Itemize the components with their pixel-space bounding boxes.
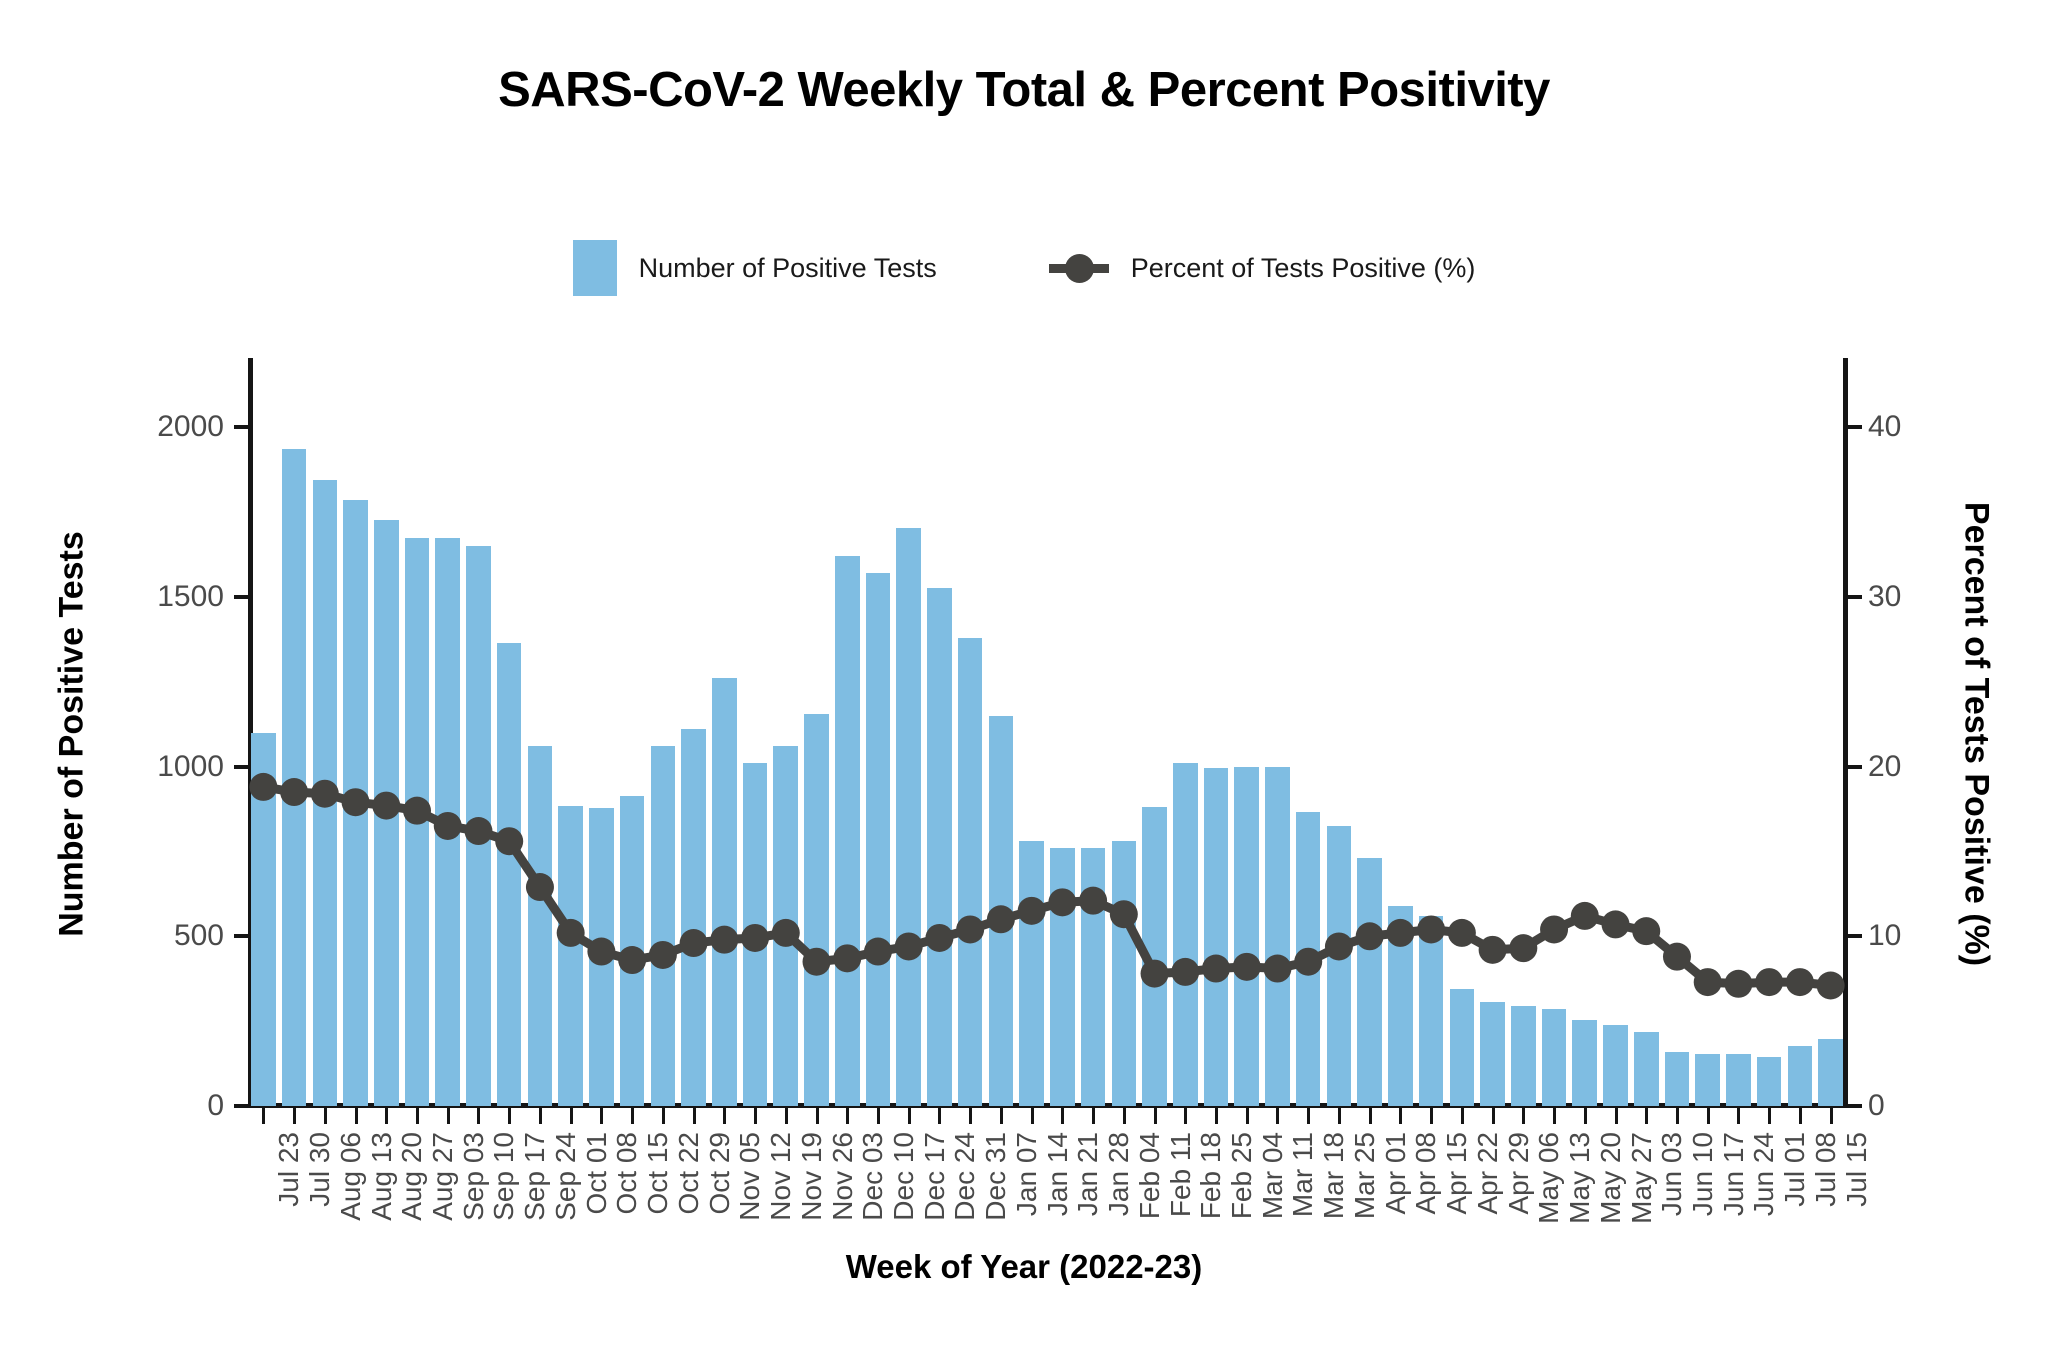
bar — [681, 729, 706, 1106]
x-axis-tick-label: Dec 03 — [857, 1132, 889, 1221]
x-axis-tick-label: Jan 14 — [1042, 1132, 1074, 1216]
x-axis-tick-label: Mar 18 — [1318, 1132, 1350, 1219]
bar — [1173, 763, 1198, 1106]
x-axis-tick — [355, 1108, 358, 1124]
x-axis-tick — [877, 1108, 880, 1124]
bar — [958, 638, 983, 1106]
x-axis-tick — [1215, 1108, 1218, 1124]
x-axis-tick — [631, 1108, 634, 1124]
y-axis-right-tick — [1848, 1104, 1862, 1108]
x-axis-tick — [1154, 1108, 1157, 1124]
x-axis-tick-label: Dec 10 — [888, 1132, 920, 1221]
bar — [374, 520, 399, 1106]
y-axis-left-tick-label: 0 — [207, 1089, 224, 1123]
line-marker-icon — [1049, 251, 1109, 285]
bar — [1665, 1052, 1690, 1106]
x-axis-tick-label: Jul 30 — [304, 1132, 336, 1207]
bar — [866, 573, 891, 1106]
y-axis-left-tick — [234, 595, 248, 599]
legend-item-bars: Number of Positive Tests — [573, 240, 937, 296]
x-axis-tick-label: Aug 06 — [335, 1132, 367, 1221]
x-axis-tick — [1461, 1108, 1464, 1124]
bar — [896, 528, 921, 1106]
bar — [1327, 826, 1352, 1106]
y-axis-left-tick — [234, 1104, 248, 1108]
x-axis-tick — [908, 1108, 911, 1124]
y-axis-right-tick — [1848, 765, 1862, 769]
x-axis-tick-label: Jan 21 — [1072, 1132, 1104, 1216]
x-axis-tick-label: Oct 08 — [611, 1132, 643, 1214]
y-axis-left-tick-label: 2000 — [157, 410, 224, 444]
x-axis-tick — [539, 1108, 542, 1124]
x-axis-tick — [1830, 1108, 1833, 1124]
x-axis-tick — [416, 1108, 419, 1124]
bar — [773, 746, 798, 1106]
x-axis-tick-label: Feb 25 — [1226, 1132, 1258, 1219]
x-axis-tick — [1338, 1108, 1341, 1124]
y-axis-right-tick — [1848, 934, 1862, 938]
x-axis-tick — [1123, 1108, 1126, 1124]
x-axis-tick-label: Jun 24 — [1748, 1132, 1780, 1216]
bar — [1450, 989, 1475, 1106]
x-axis-tick — [477, 1108, 480, 1124]
x-axis-tick-label: Oct 22 — [673, 1132, 705, 1214]
y-axis-right-title: Percent of Tests Positive (%) — [1957, 502, 1996, 966]
x-axis-tick-label: Sep 24 — [550, 1132, 582, 1221]
y-axis-right-tick-label: 10 — [1868, 919, 1901, 953]
bar — [1081, 848, 1106, 1106]
plot-area — [248, 366, 1846, 1106]
x-axis-tick — [1707, 1108, 1710, 1124]
x-axis-tick — [293, 1108, 296, 1124]
bars-layer — [248, 366, 1846, 1106]
x-axis-tick — [1000, 1108, 1003, 1124]
x-axis-tick-label: Feb 11 — [1165, 1132, 1197, 1217]
bar — [1788, 1046, 1813, 1106]
bar — [1603, 1025, 1628, 1106]
x-axis-tick-label: Dec 24 — [949, 1132, 981, 1221]
bar — [712, 678, 737, 1106]
x-axis-tick-label: Jul 01 — [1779, 1132, 1811, 1207]
bar — [1204, 768, 1229, 1106]
x-axis-tick — [938, 1108, 941, 1124]
bar — [1019, 841, 1044, 1106]
bar — [466, 546, 491, 1106]
bar — [528, 746, 553, 1106]
x-axis-tick-label: Sep 10 — [488, 1132, 520, 1221]
y-axis-right-tick — [1848, 425, 1862, 429]
x-axis-title: Week of Year (2022-23) — [0, 1248, 2048, 1286]
bar — [497, 643, 522, 1106]
bar — [620, 796, 645, 1106]
x-axis-tick — [754, 1108, 757, 1124]
x-axis-tick-label: Feb 18 — [1195, 1132, 1227, 1219]
bar — [1572, 1020, 1597, 1106]
x-axis-tick-label: Nov 05 — [734, 1132, 766, 1221]
x-axis-tick — [1061, 1108, 1064, 1124]
x-axis-tick — [1737, 1108, 1740, 1124]
x-axis-tick — [969, 1108, 972, 1124]
bar — [251, 733, 276, 1106]
x-axis-tick-label: Mar 04 — [1257, 1132, 1289, 1219]
x-axis-tick — [1430, 1108, 1433, 1124]
y-axis-right-tick-label: 0 — [1868, 1089, 1885, 1123]
x-axis-tick — [693, 1108, 696, 1124]
bar — [1634, 1032, 1659, 1106]
x-axis-tick-label: May 20 — [1595, 1132, 1627, 1224]
x-axis-tick-label: Jul 23 — [273, 1132, 305, 1207]
y-axis-right-tick-label: 20 — [1868, 750, 1901, 784]
bar — [1726, 1054, 1751, 1106]
x-axis-tick-label: Jan 07 — [1011, 1132, 1043, 1216]
legend-label-bars: Number of Positive Tests — [639, 253, 937, 284]
bar — [282, 449, 307, 1106]
bar — [1511, 1006, 1536, 1106]
x-axis-tick — [570, 1108, 573, 1124]
x-axis-tick — [1645, 1108, 1648, 1124]
x-axis-tick-label: Jun 17 — [1718, 1132, 1750, 1216]
y-axis-left-tick-label: 1500 — [157, 580, 224, 614]
y-axis-left-tick — [234, 934, 248, 938]
bar — [1419, 916, 1444, 1106]
x-axis-tick-label: Mar 11 — [1287, 1132, 1319, 1217]
x-axis-tick — [662, 1108, 665, 1124]
bar — [804, 714, 829, 1106]
bar — [1818, 1039, 1843, 1106]
bar — [1388, 906, 1413, 1106]
x-axis-tick-label: Aug 27 — [427, 1132, 459, 1221]
x-axis-tick-label: May 27 — [1626, 1132, 1658, 1224]
x-axis-tick — [1276, 1108, 1279, 1124]
x-axis-tick — [1031, 1108, 1034, 1124]
x-axis-tick — [723, 1108, 726, 1124]
chart-legend: Number of Positive Tests Percent of Test… — [0, 240, 2048, 296]
x-axis-tick — [785, 1108, 788, 1124]
y-axis-left-tick — [234, 765, 248, 769]
bar — [1296, 812, 1321, 1106]
x-axis-tick-label: Jul 08 — [1810, 1132, 1842, 1207]
y-axis-right-tick-label: 30 — [1868, 580, 1901, 614]
y-axis-left-tick — [234, 425, 248, 429]
x-axis-tick — [508, 1108, 511, 1124]
bar — [343, 500, 368, 1106]
bar — [435, 538, 460, 1106]
x-axis-tick-label: May 06 — [1533, 1132, 1565, 1224]
x-axis-tick-label: Apr 29 — [1503, 1132, 1535, 1215]
x-axis-tick-label: Apr 15 — [1441, 1132, 1473, 1215]
x-axis-tick — [1799, 1108, 1802, 1124]
x-axis-tick-label: Jun 10 — [1687, 1132, 1719, 1216]
x-axis-tick-label: Nov 26 — [827, 1132, 859, 1221]
bar — [651, 746, 676, 1106]
legend-label-line: Percent of Tests Positive (%) — [1131, 253, 1476, 284]
bar — [743, 763, 768, 1106]
y-axis-left-tick-label: 500 — [174, 919, 224, 953]
x-axis-tick-label: Apr 01 — [1380, 1132, 1412, 1215]
x-axis-tick-label: Apr 08 — [1410, 1132, 1442, 1215]
page-title: SARS-CoV-2 Weekly Total & Percent Positi… — [0, 62, 2048, 118]
x-axis-tick-label: Oct 01 — [581, 1132, 613, 1214]
x-axis-tick — [1615, 1108, 1618, 1124]
x-axis-tick — [1584, 1108, 1587, 1124]
x-axis-tick-label: Dec 17 — [919, 1132, 951, 1221]
x-axis-tick-label: Jul 15 — [1841, 1132, 1873, 1207]
x-axis-tick — [1768, 1108, 1771, 1124]
bar — [1357, 858, 1382, 1106]
bar — [1112, 841, 1137, 1106]
x-axis-tick — [385, 1108, 388, 1124]
bar — [989, 716, 1014, 1106]
bar-swatch-icon — [573, 240, 617, 296]
legend-item-line: Percent of Tests Positive (%) — [1049, 251, 1476, 285]
bar — [1695, 1054, 1720, 1106]
y-axis-right-tick — [1848, 595, 1862, 599]
bar — [1542, 1009, 1567, 1106]
x-axis-tick — [1522, 1108, 1525, 1124]
x-axis-tick-label: Aug 20 — [396, 1132, 428, 1221]
x-axis-tick-label: Jun 03 — [1656, 1132, 1688, 1216]
x-axis-tick-label: May 13 — [1564, 1132, 1596, 1224]
x-axis-tick-label: Sep 03 — [458, 1132, 490, 1221]
x-axis-tick-label: Apr 22 — [1472, 1132, 1504, 1215]
x-axis-tick-label: Mar 25 — [1349, 1132, 1381, 1219]
x-axis-tick — [1092, 1108, 1095, 1124]
x-axis-tick — [1184, 1108, 1187, 1124]
bar — [1265, 767, 1290, 1106]
bar — [927, 588, 952, 1106]
bar — [1234, 767, 1259, 1106]
bar — [1757, 1057, 1782, 1106]
x-axis-tick — [1307, 1108, 1310, 1124]
x-axis-tick-label: Sep 17 — [519, 1132, 551, 1221]
y-axis-right-tick-label: 40 — [1868, 410, 1901, 444]
x-axis-tick — [1553, 1108, 1556, 1124]
bar — [1050, 848, 1075, 1106]
x-axis-tick — [324, 1108, 327, 1124]
y-axis-left-title: Number of Positive Tests — [53, 531, 92, 937]
x-axis-tick-label: Aug 13 — [366, 1132, 398, 1221]
x-axis-tick-label: Nov 12 — [765, 1132, 797, 1221]
chart-figure: SARS-CoV-2 Weekly Total & Percent Positi… — [0, 0, 2048, 1365]
x-axis-tick-label: Oct 29 — [704, 1132, 736, 1214]
bar — [558, 806, 583, 1106]
x-axis-tick-label: Dec 31 — [980, 1132, 1012, 1221]
bar — [1142, 807, 1167, 1106]
x-axis-tick — [600, 1108, 603, 1124]
x-axis-tick-label: Feb 04 — [1134, 1132, 1166, 1219]
bar — [313, 480, 338, 1106]
bar — [589, 808, 614, 1106]
x-axis-tick — [1399, 1108, 1402, 1124]
x-axis-tick — [816, 1108, 819, 1124]
x-axis-tick — [262, 1108, 265, 1124]
x-axis-tick-label: Oct 15 — [642, 1132, 674, 1214]
y-axis-left-tick-label: 1000 — [157, 750, 224, 784]
bar — [405, 538, 430, 1106]
x-axis-tick — [1369, 1108, 1372, 1124]
x-axis-tick — [1492, 1108, 1495, 1124]
x-axis-tick — [1246, 1108, 1249, 1124]
x-axis-tick-label: Nov 19 — [796, 1132, 828, 1221]
x-axis-tick-label: Jan 28 — [1103, 1132, 1135, 1216]
bar — [835, 556, 860, 1106]
x-axis-tick — [447, 1108, 450, 1124]
bar — [1480, 1002, 1505, 1106]
x-axis-tick — [1676, 1108, 1679, 1124]
x-axis-tick — [846, 1108, 849, 1124]
